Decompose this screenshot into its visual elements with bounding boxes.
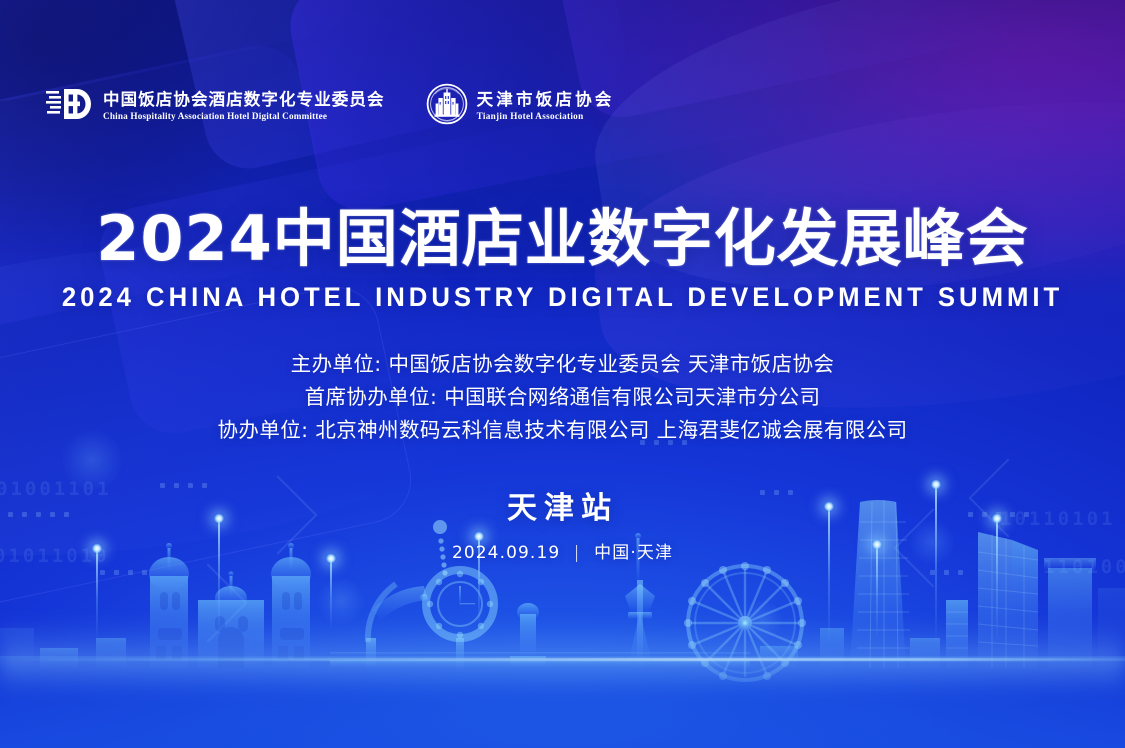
organizer-block: 主办单位: 中国饭店协会数字化专业委员会 天津市饭店协会 首席协办单位: 中国联… [0, 348, 1125, 448]
title-block: 2024中国酒店业数字化发展峰会 2024 CHINA HOTEL INDUST… [0, 206, 1125, 313]
event-date: 2024.09.19 [452, 543, 560, 563]
circular-building-emblem-icon [426, 83, 468, 130]
event-location: 中国·天津 [594, 543, 673, 563]
main-title-en: 2024 CHINA HOTEL INDUSTRY DIGITAL DEVELO… [17, 282, 1108, 313]
station-date-line: 2024.09.19 | 中国·天津 [0, 538, 1125, 563]
logo-title-en: China Hospitality Association Hotel Digi… [103, 112, 385, 121]
logo-title-cn: 中国饭店协会酒店数字化专业委员会 [103, 92, 385, 109]
logo-title-cn: 天津市饭店协会 [477, 92, 615, 109]
logo-tianjin-hotel-association: 天津市饭店协会 Tianjin Hotel Association [426, 83, 615, 130]
date-separator: | [567, 543, 588, 563]
logo-divider [405, 92, 406, 122]
bottom-fade [0, 638, 1125, 748]
station-name: 天津站 [0, 483, 1125, 527]
logo-text-block: 天津市饭店协会 Tianjin Hotel Association [477, 92, 615, 122]
station-block: 天津站 2024.09.19 | 中国·天津 [0, 483, 1125, 563]
organizer-line-cohost: 协办单位: 北京神州数码云科信息技术有限公司 上海君斐亿诚会展有限公司 [0, 414, 1125, 447]
organizer-line-chief-cohost: 首席协办单位: 中国联合网络通信有限公司天津市分公司 [0, 381, 1125, 414]
event-poster: 01001101 01011010 10110101 11010011 [0, 0, 1125, 748]
organizer-line-host: 主办单位: 中国饭店协会数字化专业委员会 天津市饭店协会 [0, 348, 1125, 381]
logo-china-hospitality-association: 中国饭店协会酒店数字化专业委员会 China Hospitality Assoc… [46, 87, 385, 126]
logo-bar: 中国饭店协会酒店数字化专业委员会 China Hospitality Assoc… [46, 83, 615, 130]
logo-text-block: 中国饭店协会酒店数字化专业委员会 China Hospitality Assoc… [103, 92, 385, 122]
main-title-cn: 2024中国酒店业数字化发展峰会 [0, 206, 1125, 273]
logo-title-en: Tianjin Hotel Association [477, 112, 615, 121]
stylized-d-speedlines-icon [46, 87, 94, 126]
